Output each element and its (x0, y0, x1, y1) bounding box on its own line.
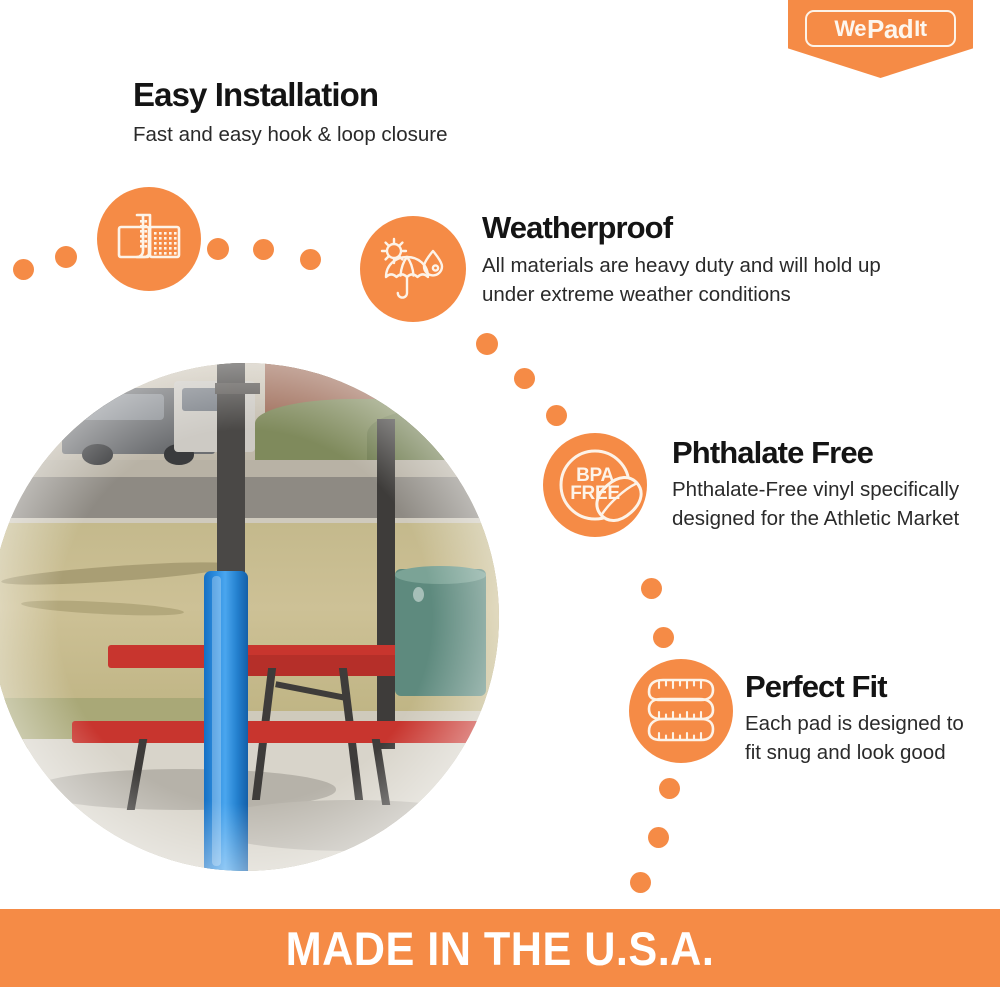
photo-blue-pole-pad (204, 571, 248, 871)
path-dot (630, 872, 651, 893)
photo-shade-structure-post (217, 363, 245, 576)
path-dot (55, 246, 77, 268)
infographic-page: We Pad It Easy Installation Fast and eas… (0, 0, 1000, 987)
measuring-tape-icon (643, 674, 719, 748)
feature-description-easy-installation: Fast and easy hook & loop closure (133, 120, 563, 150)
path-dot (300, 249, 321, 270)
path-dot (253, 239, 274, 260)
logo-text-it: It (914, 18, 926, 40)
photo-post-bracket (215, 383, 261, 394)
path-dot (207, 238, 229, 260)
logo-outline-box: We Pad It (805, 10, 956, 47)
bpa-line-2: FREE (543, 485, 647, 503)
path-dot (514, 368, 535, 389)
bpa-free-leaf-icon: BPA FREE (543, 433, 647, 537)
feature-description-perfect-fit: Each pad is designed to fit snug and loo… (745, 709, 985, 768)
feature-title-easy-installation: Easy Installation (133, 78, 563, 113)
hook-loop-closure-icon (117, 211, 181, 267)
photo-pole-pad-highlight (212, 576, 220, 866)
product-photo (0, 363, 499, 871)
feature-title-phthalate-free: Phthalate Free (672, 437, 972, 470)
made-in-usa-banner: MADE IN THE U.S.A. (0, 909, 1000, 987)
path-dot (13, 259, 34, 280)
logo-text-we: We (834, 18, 866, 40)
made-in-usa-text: MADE IN THE U.S.A. (286, 921, 715, 976)
photo-picnic-bench-left (72, 721, 224, 743)
umbrella-sun-raindrop-icon (378, 237, 448, 301)
photo-shade-structure-post-right (377, 419, 395, 749)
path-dot (476, 333, 498, 355)
photo-shadow (204, 800, 499, 851)
photo-trash-barrel-rim (395, 566, 486, 584)
photo-trash-barrel (395, 569, 486, 696)
bpa-free-label: BPA FREE (543, 467, 647, 503)
path-dot (546, 405, 567, 426)
feature-icon-circle-phthalate-free: BPA FREE (543, 433, 647, 537)
photo-suv-window (72, 394, 163, 419)
photo-road (0, 477, 499, 520)
feature-block-easy-installation: Easy Installation Fast and easy hook & l… (133, 78, 563, 149)
feature-block-phthalate-free: Phthalate Free Phthalate-Free vinyl spec… (672, 437, 972, 534)
feature-icon-circle-perfect-fit (629, 659, 733, 763)
feature-description-phthalate-free: Phthalate-Free vinyl specifically design… (672, 475, 972, 534)
feature-icon-circle-weatherproof (360, 216, 466, 322)
feature-description-weatherproof: All materials are heavy duty and will ho… (482, 251, 912, 310)
feature-block-perfect-fit: Perfect Fit Each pad is designed to fit … (745, 671, 985, 768)
path-dot (641, 578, 662, 599)
feature-title-weatherproof: Weatherproof (482, 212, 912, 245)
photo-barrel-highlight (413, 587, 424, 602)
photo-picnic-bench-right (240, 721, 484, 743)
logo-text-pad: Pad (867, 16, 913, 42)
photo-suv-wheel (82, 444, 112, 464)
feature-title-perfect-fit: Perfect Fit (745, 671, 985, 704)
path-dot (653, 627, 674, 648)
feature-icon-circle-easy-installation (97, 187, 201, 291)
path-dot (659, 778, 680, 799)
feature-block-weatherproof: Weatherproof All materials are heavy dut… (482, 212, 912, 310)
brand-logo: We Pad It (788, 0, 973, 78)
path-dot (648, 827, 669, 848)
